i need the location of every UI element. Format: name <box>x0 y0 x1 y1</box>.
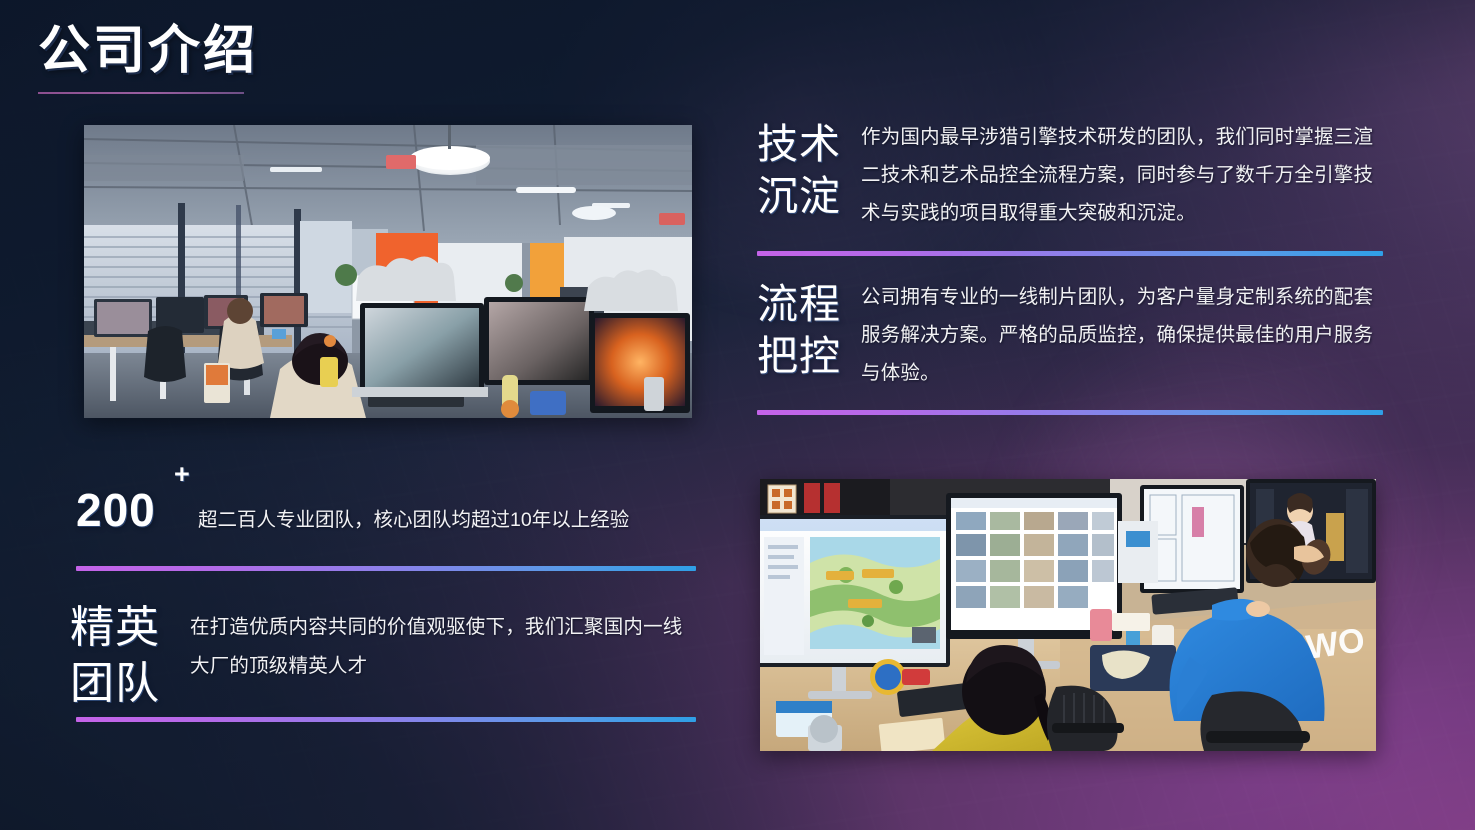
office-workspace-photo <box>84 125 692 418</box>
feature-heading-line2: 团队 <box>70 656 190 712</box>
title-underline <box>38 92 244 94</box>
stat-block-team-size: 200 + 超二百人专业团队，核心团队均超过10年以上经验 <box>76 487 696 539</box>
page-title-block: 公司介绍 <box>38 22 258 94</box>
feature-body-elite-team: 在打造优质内容共同的价值观驱使下，我们汇聚国内一线大厂的顶级精英人才 <box>190 600 700 686</box>
slide-company-introduction: 公司介绍 <box>0 0 1475 830</box>
svg-text:WO: WO <box>1304 621 1367 667</box>
feature-heading-line1: 精英 <box>70 603 160 652</box>
office-workspace-illustration <box>84 125 692 418</box>
feature-heading-line2: 把控 <box>757 330 861 382</box>
designers-at-desk-photo: WO <box>760 479 1376 751</box>
stat-description: 超二百人专业团队，核心团队均超过10年以上经验 <box>198 496 696 539</box>
divider-under-elite-team <box>76 717 696 722</box>
page-title: 公司介绍 <box>38 22 258 82</box>
feature-heading-line1: 技术 <box>757 121 841 167</box>
feature-body-process: 公司拥有专业的一线制片团队，为客户量身定制系统的配套服务解决方案。严格的品质监控… <box>861 278 1385 392</box>
divider-under-stat <box>76 566 696 571</box>
feature-block-technology: 技术 沉淀 作为国内最早涉猎引擎技术研发的团队，我们同时掌握三渲二技术和艺术品控… <box>757 118 1385 232</box>
feature-body-technology: 作为国内最早涉猎引擎技术研发的团队，我们同时掌握三渲二技术和艺术品控全流程方案，… <box>861 118 1385 232</box>
divider-under-technology <box>757 251 1383 256</box>
stat-number: 200 <box>76 484 156 536</box>
feature-heading-process: 流程 把控 <box>757 278 861 383</box>
feature-block-process: 流程 把控 公司拥有专业的一线制片团队，为客户量身定制系统的配套服务解决方案。严… <box>757 278 1385 392</box>
feature-heading-elite-team: 精英 团队 <box>70 600 190 713</box>
feature-heading-technology: 技术 沉淀 <box>757 118 861 223</box>
divider-under-process <box>757 410 1383 415</box>
designers-at-desk-illustration: WO <box>760 479 1376 751</box>
feature-heading-line1: 流程 <box>757 281 841 327</box>
stat-number-wrap: 200 + <box>76 487 198 533</box>
feature-block-elite-team: 精英 团队 在打造优质内容共同的价值观驱使下，我们汇聚国内一线大厂的顶级精英人才 <box>70 600 700 713</box>
stat-plus-sign: + <box>174 459 190 490</box>
feature-heading-line2: 沉淀 <box>757 170 861 222</box>
